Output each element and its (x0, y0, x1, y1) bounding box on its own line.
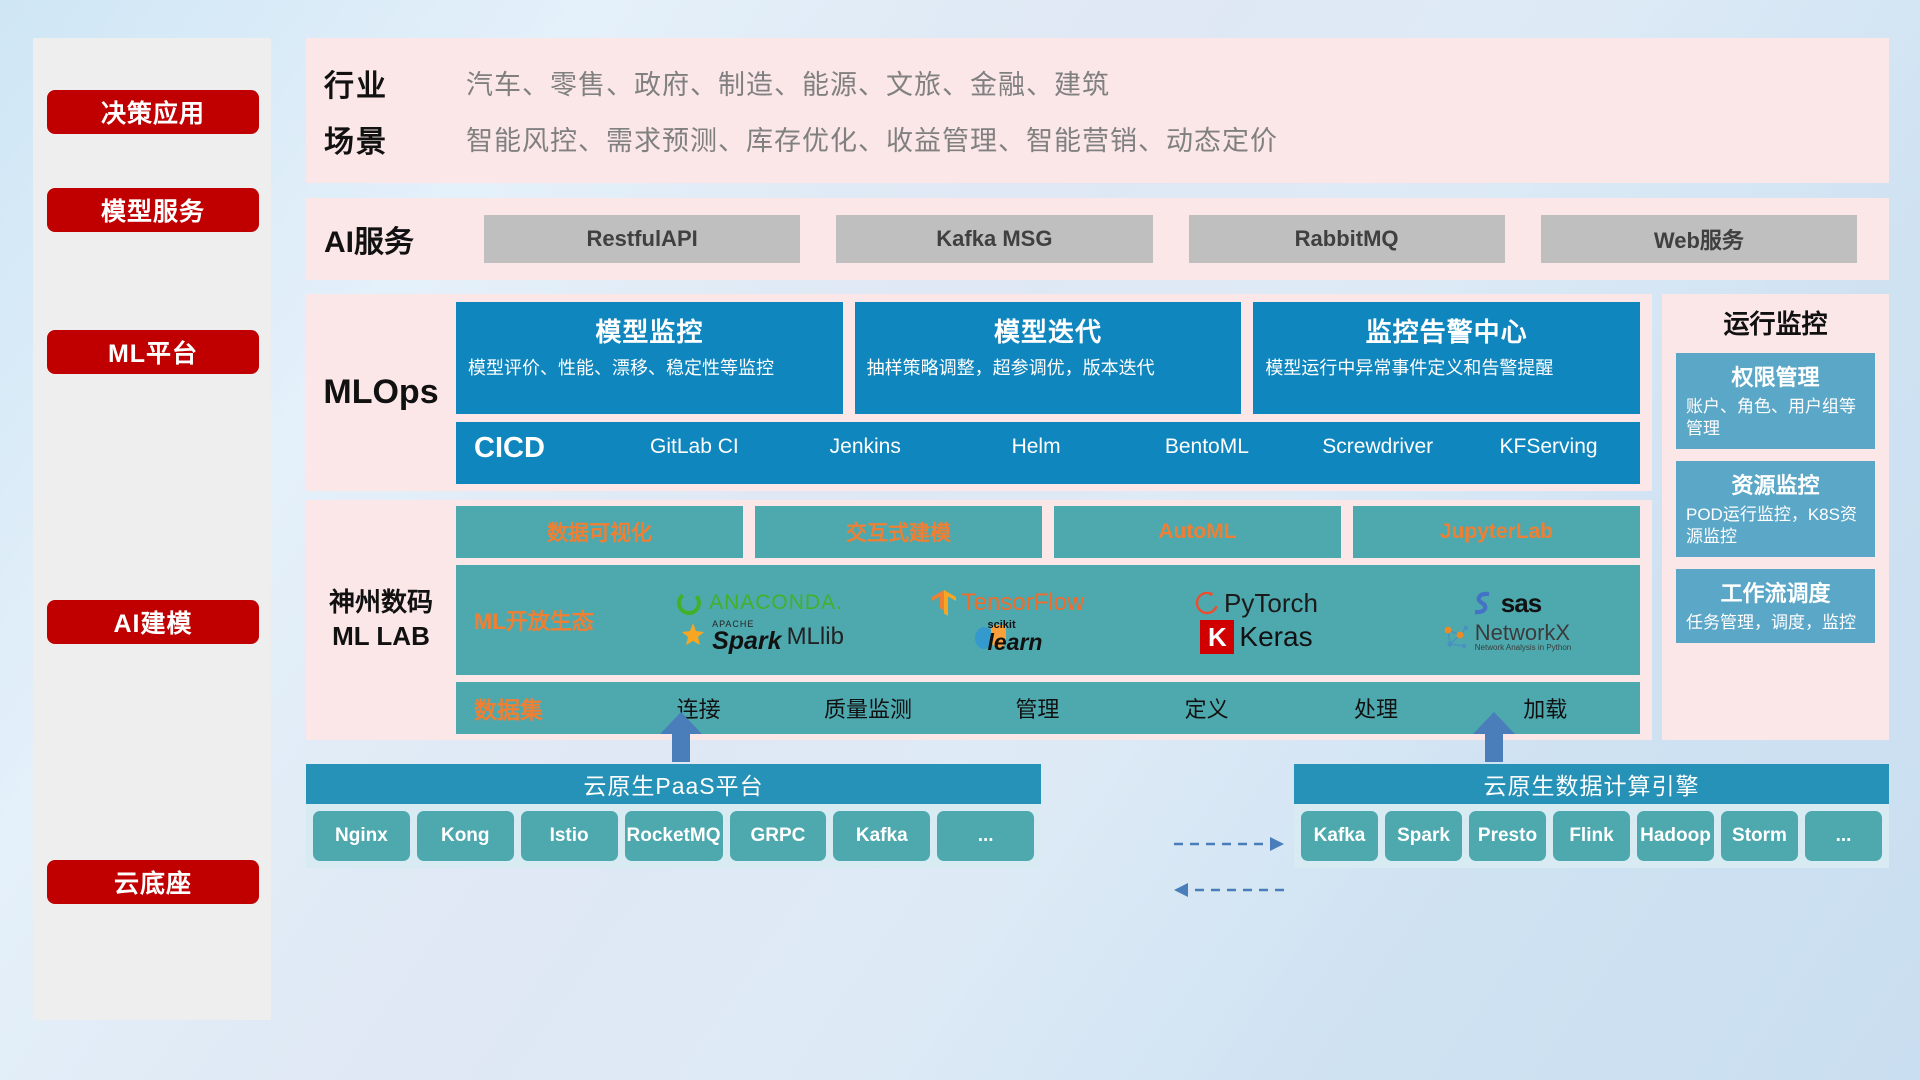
architecture-diagram: 决策应用 模型服务 ML平台 AI建模 云底座 行业 汽车、零售、政府、制造、能… (0, 0, 1920, 1080)
mlops-label: MLOps (306, 373, 456, 412)
ai-service-chip-kafka-msg[interactable]: Kafka MSG (836, 215, 1152, 263)
paas-chip-kong[interactable]: Kong (417, 811, 514, 861)
ml-lab-label: 神州数码 ML LAB (306, 586, 456, 654)
engine-chip-hadoop[interactable]: Hadoop (1637, 811, 1714, 861)
cicd-item-gitlab-ci[interactable]: GitLab CI (609, 432, 780, 462)
tool-chip-jupyterlab[interactable]: JupyterLab (1353, 506, 1640, 558)
card-title: 权限管理 (1686, 360, 1865, 392)
ml-lab-label-line1: 神州数码 (306, 586, 456, 620)
mllib-wordmark: MLlib (787, 623, 844, 651)
card-desc: 模型运行中异常事件定义和告警提醒 (1265, 357, 1628, 381)
mlops-content: 模型监控 模型评价、性能、漂移、稳定性等监控 模型迭代 抽样策略调整，超参调优，… (456, 302, 1652, 484)
layer-labels-sidebar: 决策应用 模型服务 ML平台 AI建模 云底座 (33, 38, 271, 1020)
sidebar-item-label: 模型服务 (101, 192, 205, 228)
industry-row: 行业 汽车、零售、政府、制造、能源、文旅、金融、建筑 (324, 55, 1889, 111)
ecosystem-label: ML开放生态 (474, 604, 634, 636)
decision-application-band: 行业 汽车、零售、政府、制造、能源、文旅、金融、建筑 场景 智能风控、需求预测、… (306, 38, 1889, 183)
networkx-wordmark: NetworkX (1475, 621, 1572, 644)
arrow-up-engine-icon (1471, 712, 1517, 758)
ai-service-label: AI服务 (324, 217, 466, 261)
industry-key: 行业 (324, 61, 466, 105)
anaconda-logo: ANACONDA. (674, 588, 843, 618)
paas-title: 云原生PaaS平台 (306, 764, 1041, 804)
cicd-item-screwdriver[interactable]: Screwdriver (1292, 432, 1463, 462)
cloud-native-data-engine-group: 云原生数据计算引擎 Kafka Spark Presto Flink Hadoo… (1294, 764, 1889, 868)
scenario-values: 智能风控、需求预测、库存优化、收益管理、智能营销、动态定价 (466, 119, 1278, 158)
mlops-card-alert-center[interactable]: 监控告警中心 模型运行中异常事件定义和告警提醒 (1253, 302, 1640, 414)
monitoring-title: 运行监控 (1676, 304, 1875, 341)
engine-chip-presto[interactable]: Presto (1469, 811, 1546, 861)
card-title: 资源监控 (1686, 468, 1865, 500)
mlops-card-model-monitoring[interactable]: 模型监控 模型评价、性能、漂移、稳定性等监控 (456, 302, 843, 414)
engine-chip-flink[interactable]: Flink (1553, 811, 1630, 861)
card-desc: 账户、角色、用户组等管理 (1686, 396, 1865, 440)
cicd-title: CICD (474, 432, 609, 465)
paas-chip-grpc[interactable]: GRPC (730, 811, 827, 861)
card-desc: 抽样策略调整，超参调优，版本迭代 (867, 357, 1230, 381)
ai-modeling-content: 数据可视化 交互式建模 AutoML JupyterLab ML开放生态 ANA… (456, 506, 1652, 734)
mlops-card-model-iteration[interactable]: 模型迭代 抽样策略调整，超参调优，版本迭代 (855, 302, 1242, 414)
sas-logo: sas (1470, 588, 1541, 619)
pytorch-logo: PyTorch (1195, 588, 1318, 619)
tool-chip-interactive-modeling[interactable]: 交互式建模 (755, 506, 1042, 558)
spark-wordmark-group: APACHE Spark (712, 620, 781, 654)
sidebar-item-ml-platform[interactable]: ML平台 (47, 330, 259, 374)
sidebar-item-model-service[interactable]: 模型服务 (47, 188, 259, 232)
sidebar-item-ai-modeling[interactable]: AI建模 (47, 600, 259, 644)
cloud-base-layer: 云原生PaaS平台 Nginx Kong Istio RocketMQ GRPC… (306, 712, 1889, 1020)
scenario-row: 场景 智能风控、需求预测、库存优化、收益管理、智能营销、动态定价 (324, 111, 1889, 167)
learn-text: learn (988, 631, 1043, 654)
spark-wordmark: Spark (712, 629, 781, 654)
arrow-up-paas-icon (658, 712, 704, 758)
modeling-tool-list: 数据可视化 交互式建模 AutoML JupyterLab (456, 506, 1640, 558)
cicd-bar: CICD GitLab CI Jenkins Helm BentoML Scre… (456, 422, 1640, 484)
cicd-item-kfserving[interactable]: KFServing (1463, 432, 1634, 462)
card-title: 模型监控 (468, 312, 831, 349)
ai-service-chip-list: RestfulAPI Kafka MSG RabbitMQ Web服务 (466, 215, 1889, 263)
scenario-key: 场景 (324, 117, 466, 161)
sidebar-item-label: ML平台 (108, 334, 198, 370)
paas-chip-more[interactable]: ... (937, 811, 1034, 861)
ai-service-chip-rabbitmq[interactable]: RabbitMQ (1189, 215, 1505, 263)
pytorch-wordmark: PyTorch (1224, 588, 1318, 619)
ai-modeling-band: 神州数码 ML LAB 数据可视化 交互式建模 AutoML JupyterLa… (306, 500, 1652, 740)
ai-service-band: AI服务 RestfulAPI Kafka MSG RabbitMQ Web服务 (306, 198, 1889, 280)
cloud-native-paas-group: 云原生PaaS平台 Nginx Kong Istio RocketMQ GRPC… (306, 764, 1041, 868)
engine-chip-kafka[interactable]: Kafka (1301, 811, 1378, 861)
sas-mark-icon (1470, 589, 1496, 617)
monitoring-card-workflow[interactable]: 工作流调度 任务管理，调度，监控 (1676, 569, 1875, 643)
tensorflow-wordmark: TensorFlow (962, 589, 1085, 617)
monitoring-card-resource[interactable]: 资源监控 POD运行监控，K8S资源监控 (1676, 461, 1875, 557)
pytorch-mark-icon (1195, 588, 1219, 618)
cicd-item-bentoml[interactable]: BentoML (1121, 432, 1292, 462)
monitoring-card-permission[interactable]: 权限管理 账户、角色、用户组等管理 (1676, 353, 1875, 449)
spark-mllib-logo: APACHE Spark MLlib (673, 620, 844, 654)
ecosystem-logo-grid: ANACONDA. TensorFlow (634, 586, 1630, 654)
tool-chip-data-visualization[interactable]: 数据可视化 (456, 506, 743, 558)
networkx-logo: NetworkX Network Analysis in Python (1440, 621, 1572, 652)
sidebar-item-decision-app[interactable]: 决策应用 (47, 90, 259, 134)
tensorflow-logo: TensorFlow (931, 588, 1085, 618)
bidirectional-dashed-connector (1174, 832, 1284, 912)
scikit-learn-wordmark-group: scikit learn (988, 620, 1043, 654)
engine-chip-more[interactable]: ... (1805, 811, 1882, 861)
keras-mark-icon: K (1200, 620, 1234, 654)
card-title: 工作流调度 (1686, 576, 1865, 608)
mlops-card-list: 模型监控 模型评价、性能、漂移、稳定性等监控 模型迭代 抽样策略调整，超参调优，… (456, 302, 1640, 414)
tensorflow-mark-icon (931, 588, 957, 618)
sas-wordmark: sas (1501, 588, 1541, 619)
ml-lab-label-line2: ML LAB (306, 620, 456, 654)
card-title: 模型迭代 (867, 312, 1230, 349)
engine-chip-list: Kafka Spark Presto Flink Hadoop Storm ..… (1294, 804, 1889, 868)
sidebar-item-label: AI建模 (113, 604, 192, 640)
paas-chip-istio[interactable]: Istio (521, 811, 618, 861)
scikit-learn-logo: scikit learn (973, 620, 1043, 654)
spark-star-icon (673, 620, 707, 654)
networkx-subtitle: Network Analysis in Python (1475, 644, 1572, 652)
card-desc: 模型评价、性能、漂移、稳定性等监控 (468, 357, 831, 381)
cicd-item-jenkins[interactable]: Jenkins (780, 432, 951, 462)
paas-chip-list: Nginx Kong Istio RocketMQ GRPC Kafka ... (306, 804, 1041, 868)
paas-chip-kafka[interactable]: Kafka (833, 811, 930, 861)
anaconda-mark-icon (674, 588, 704, 618)
card-desc: POD运行监控，K8S资源监控 (1686, 504, 1865, 548)
anaconda-wordmark: ANACONDA. (709, 591, 843, 615)
sidebar-item-label: 决策应用 (101, 94, 205, 130)
networkx-mark-icon (1440, 622, 1470, 652)
keras-logo: K Keras (1200, 620, 1312, 654)
card-title: 监控告警中心 (1265, 312, 1628, 349)
engine-chip-spark[interactable]: Spark (1385, 811, 1462, 861)
mlops-band: MLOps 模型监控 模型评价、性能、漂移、稳定性等监控 模型迭代 抽样策略调整… (306, 294, 1652, 491)
tool-chip-automl[interactable]: AutoML (1054, 506, 1341, 558)
runtime-monitoring-panel: 运行监控 权限管理 账户、角色、用户组等管理 资源监控 POD运行监控，K8S资… (1662, 294, 1889, 740)
keras-wordmark: Keras (1239, 621, 1312, 653)
card-desc: 任务管理，调度，监控 (1686, 612, 1865, 634)
sidebar-item-label: 云底座 (114, 864, 192, 900)
cicd-item-helm[interactable]: Helm (951, 432, 1122, 462)
engine-chip-storm[interactable]: Storm (1721, 811, 1798, 861)
ai-service-chip-restfulapi[interactable]: RestfulAPI (484, 215, 800, 263)
ml-open-ecosystem: ML开放生态 ANACONDA. (456, 565, 1640, 675)
paas-chip-rocketmq[interactable]: RocketMQ (625, 811, 723, 861)
industry-values: 汽车、零售、政府、制造、能源、文旅、金融、建筑 (466, 63, 1110, 102)
paas-chip-nginx[interactable]: Nginx (313, 811, 410, 861)
sidebar-item-cloud-base[interactable]: 云底座 (47, 860, 259, 904)
networkx-wordmark-group: NetworkX Network Analysis in Python (1475, 621, 1572, 652)
engine-title: 云原生数据计算引擎 (1294, 764, 1889, 804)
keras-mark-letter: K (1208, 622, 1227, 653)
ai-service-chip-web-service[interactable]: Web服务 (1541, 215, 1857, 263)
